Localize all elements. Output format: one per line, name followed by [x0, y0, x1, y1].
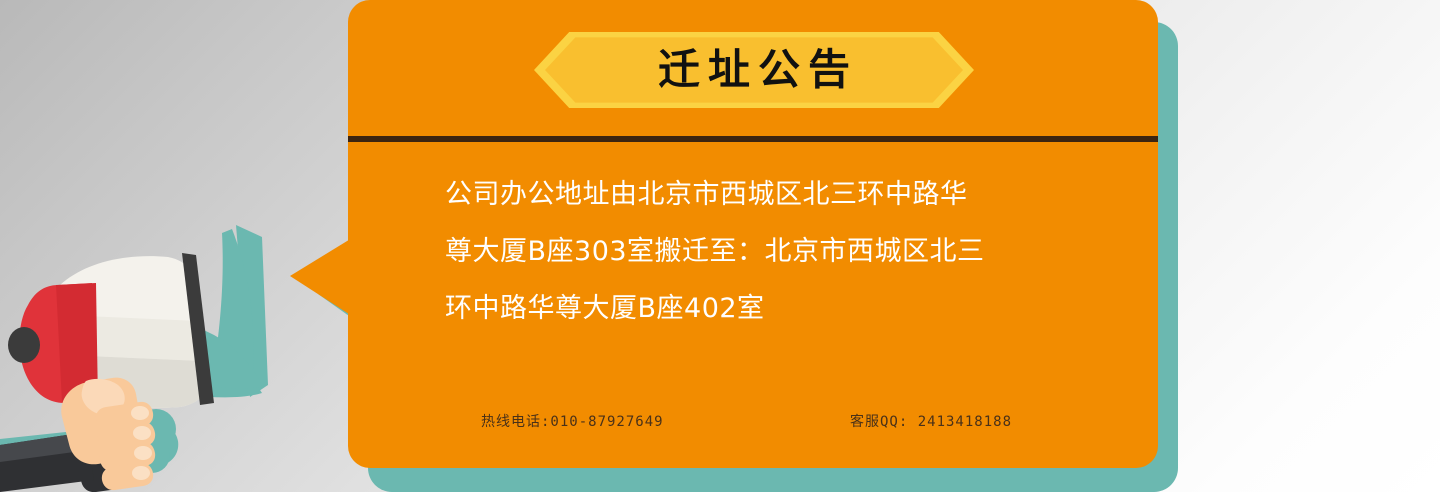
qq-text: 客服QQ: 2413418188 [850, 411, 1012, 431]
body-line-1: 公司办公地址由北京市西城区北三环中路华 [445, 166, 1095, 223]
announcement-body: 公司办公地址由北京市西城区北三环中路华 尊大厦B座303室搬迁至：北京市西城区北… [445, 166, 1095, 337]
contact-footer: 热线电话:010-87927649 客服QQ: 2413418188 [348, 405, 1158, 439]
hotline-text: 热线电话:010-87927649 [481, 411, 664, 431]
announcement-card: 迁址公告 公司办公地址由北京市西城区北三环中路华 尊大厦B座303室搬迁至：北京… [348, 0, 1158, 468]
divider [348, 136, 1158, 142]
body-line-3: 环中路华尊大厦B座402室 [445, 280, 1095, 337]
megaphone-knob [8, 327, 40, 363]
title-ribbon: 迁址公告 [534, 32, 974, 108]
megaphone-illustration [0, 185, 300, 492]
page-title: 迁址公告 [534, 32, 974, 108]
speech-tail [290, 238, 352, 316]
body-line-2: 尊大厦B座303室搬迁至：北京市西城区北三 [445, 223, 1095, 280]
announcement-banner: 迁址公告 公司办公地址由北京市西城区北三环中路华 尊大厦B座303室搬迁至：北京… [0, 0, 1440, 492]
